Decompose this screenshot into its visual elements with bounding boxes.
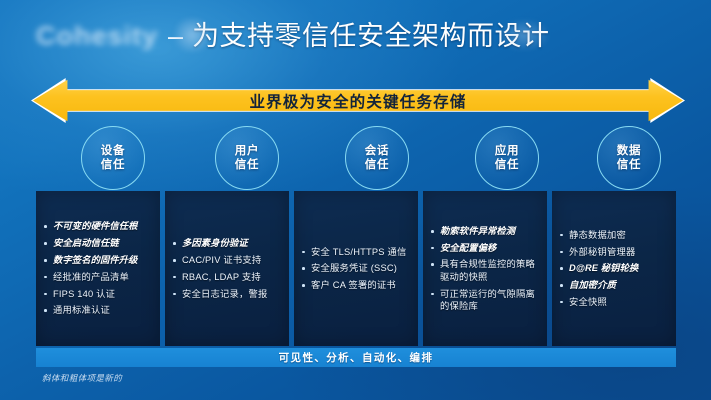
- pillar-label-line1: 应用: [495, 144, 520, 158]
- pillar-circle-data: 数据 信任: [597, 126, 661, 190]
- legend-footnote: 斜体和粗体项是新的: [42, 372, 122, 384]
- capability-list-item: 自加密介质: [558, 279, 672, 291]
- capability-list-item: 可正常运行的气隙隔离的保险库: [429, 288, 543, 313]
- capability-panels-row: 不可变的硬件信任根安全启动信任链数字签名的固件升级经批准的产品清单FIPS 14…: [36, 191, 676, 346]
- title-separator: –: [168, 21, 183, 52]
- capability-list-item: 勒索软件异常检测: [429, 225, 543, 237]
- headline-arrow-banner: 业界极为安全的关键任务存储: [33, 78, 683, 123]
- capability-panel-session: 安全 TLS/HTTPS 通信安全服务凭证 (SSC)客户 CA 签署的证书: [294, 191, 418, 346]
- foundation-bar: 可见性、分析、自动化、编排: [36, 348, 676, 367]
- capability-list-item: 静态数据加密: [558, 229, 672, 241]
- pillar-label-line2: 信任: [101, 158, 126, 172]
- trust-pillars-row: 设备 信任 用户 信任 会话 信任 应用 信任 数据 信任: [57, 126, 661, 192]
- pillar-label-line1: 设备: [101, 144, 126, 158]
- pillar-label-line2: 信任: [495, 158, 520, 172]
- capability-list-item: 安全日志记录，警报: [171, 288, 285, 300]
- capability-list-item: 通用标准认证: [42, 304, 156, 316]
- capability-list-item: FIPS 140 认证: [42, 288, 156, 300]
- capability-list-item: RBAC, LDAP 支持: [171, 271, 285, 283]
- capability-list-item: 不可变的硬件信任根: [42, 220, 156, 232]
- capability-list-item: 安全服务凭证 (SSC): [300, 262, 414, 274]
- pillar-circle-session: 会话 信任: [345, 126, 409, 190]
- pillar-label-line2: 信任: [235, 158, 260, 172]
- capability-list-item: CAC/PIV 证书支持: [171, 254, 285, 266]
- banner-label: 业界极为安全的关键任务存储: [33, 78, 683, 123]
- capability-list-item: 安全启动信任链: [42, 237, 156, 249]
- capability-panel-user: 多因素身份验证CAC/PIV 证书支持RBAC, LDAP 支持安全日志记录，警…: [165, 191, 289, 346]
- slide-canvas: Cohesity – 为支持零信任安全架构而设计 业界极为安全的关键任务存储 设…: [0, 0, 711, 400]
- capability-list: 不可变的硬件信任根安全启动信任链数字签名的固件升级经批准的产品清单FIPS 14…: [42, 220, 156, 316]
- capability-list-item: 经批准的产品清单: [42, 271, 156, 283]
- pillar-label-line1: 用户: [235, 144, 260, 158]
- pillar-label-line2: 信任: [365, 158, 390, 172]
- capability-panel-device: 不可变的硬件信任根安全启动信任链数字签名的固件升级经批准的产品清单FIPS 14…: [36, 191, 160, 346]
- pillar-label-line1: 数据: [617, 144, 642, 158]
- page-title: Cohesity – 为支持零信任安全架构而设计: [36, 14, 550, 53]
- pillar-circle-application: 应用 信任: [475, 126, 539, 190]
- capability-list: 多因素身份验证CAC/PIV 证书支持RBAC, LDAP 支持安全日志记录，警…: [171, 237, 285, 300]
- foundation-bar-label: 可见性、分析、自动化、编排: [279, 350, 434, 365]
- capability-list-item: 客户 CA 签署的证书: [300, 279, 414, 291]
- pillar-label-line2: 信任: [617, 158, 642, 172]
- capability-list-item: 数字签名的固件升级: [42, 254, 156, 266]
- capability-list: 勒索软件异常检测安全配置偏移具有合规性监控的策略驱动的快照可正常运行的气隙隔离的…: [429, 225, 543, 312]
- brand-name-redacted: Cohesity: [36, 22, 158, 51]
- capability-panel-data: 静态数据加密外部秘钥管理器D@RE 秘钥轮换自加密介质安全快照: [552, 191, 676, 346]
- pillar-circle-user: 用户 信任: [215, 126, 279, 190]
- capability-panel-application: 勒索软件异常检测安全配置偏移具有合规性监控的策略驱动的快照可正常运行的气隙隔离的…: [423, 191, 547, 346]
- title-main-text: 为支持零信任安全架构而设计: [192, 14, 550, 53]
- pillar-circle-device: 设备 信任: [81, 126, 145, 190]
- capability-list-item: 具有合规性监控的策略驱动的快照: [429, 258, 543, 283]
- capability-list-item: 安全配置偏移: [429, 242, 543, 254]
- capability-list-item: 安全 TLS/HTTPS 通信: [300, 246, 414, 258]
- pillar-label-line1: 会话: [365, 144, 390, 158]
- capability-list-item: 安全快照: [558, 296, 672, 308]
- capability-list-item: D@RE 秘钥轮换: [558, 262, 672, 274]
- capability-list: 安全 TLS/HTTPS 通信安全服务凭证 (SSC)客户 CA 签署的证书: [300, 246, 414, 292]
- capability-list-item: 外部秘钥管理器: [558, 246, 672, 258]
- capability-list: 静态数据加密外部秘钥管理器D@RE 秘钥轮换自加密介质安全快照: [558, 229, 672, 308]
- capability-list-item: 多因素身份验证: [171, 237, 285, 249]
